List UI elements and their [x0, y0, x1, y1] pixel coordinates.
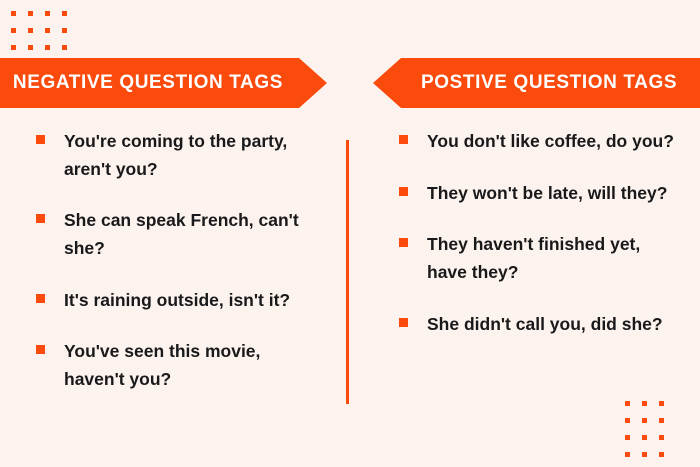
dot — [642, 401, 647, 406]
list-item: It's raining outside, isn't it? — [36, 287, 316, 315]
negative-question-tags-heading: NEGATIVE QUESTION TAGS — [13, 72, 283, 94]
decorative-dot-grid-bottom-right — [625, 401, 664, 457]
list-item: You've seen this movie, haven't you? — [36, 338, 316, 393]
list-item-text: She can speak French, can't she? — [64, 207, 316, 262]
square-bullet-icon — [36, 135, 45, 144]
dot — [642, 452, 647, 457]
dot — [659, 418, 664, 423]
list-item-text: You don't like coffee, do you? — [427, 128, 674, 156]
square-bullet-icon — [399, 238, 408, 247]
dot — [11, 45, 16, 50]
dot — [625, 452, 630, 457]
negative-question-tags-banner: NEGATIVE QUESTION TAGS — [0, 58, 327, 108]
column-divider — [346, 140, 349, 404]
dot — [45, 45, 50, 50]
list-item-text: She didn't call you, did she? — [427, 311, 663, 339]
square-bullet-icon — [36, 294, 45, 303]
list-item-text: You're coming to the party, aren't you? — [64, 128, 316, 183]
dot — [625, 418, 630, 423]
list-item: They won't be late, will they? — [399, 180, 679, 208]
list-item-text: They won't be late, will they? — [427, 180, 667, 208]
list-item-text: They haven't finished yet, have they? — [427, 231, 679, 286]
positive-tag-list: You don't like coffee, do you? They won'… — [399, 128, 679, 338]
dot — [62, 28, 67, 33]
positive-question-tags-heading: POSTIVE QUESTION TAGS — [421, 72, 677, 94]
positive-question-tags-column: You don't like coffee, do you? They won'… — [399, 128, 679, 338]
square-bullet-icon — [399, 318, 408, 327]
negative-question-tags-column: You're coming to the party, aren't you? … — [36, 128, 316, 393]
square-bullet-icon — [399, 187, 408, 196]
dot — [28, 11, 33, 16]
square-bullet-icon — [399, 135, 408, 144]
dot — [625, 435, 630, 440]
list-item-text: It's raining outside, isn't it? — [64, 287, 290, 315]
list-item: She didn't call you, did she? — [399, 311, 679, 339]
square-bullet-icon — [36, 345, 45, 354]
dot — [45, 11, 50, 16]
dot — [642, 435, 647, 440]
list-item: They haven't finished yet, have they? — [399, 231, 679, 286]
list-item-text: You've seen this movie, haven't you? — [64, 338, 316, 393]
dot — [659, 452, 664, 457]
list-item: You don't like coffee, do you? — [399, 128, 679, 156]
dot — [28, 45, 33, 50]
decorative-dot-grid-top-left — [11, 11, 67, 50]
dot — [11, 11, 16, 16]
dot — [45, 28, 50, 33]
dot — [62, 45, 67, 50]
dot — [659, 401, 664, 406]
dot — [625, 401, 630, 406]
dot — [28, 28, 33, 33]
dot — [659, 435, 664, 440]
negative-tag-list: You're coming to the party, aren't you? … — [36, 128, 316, 393]
dot — [11, 28, 16, 33]
list-item: She can speak French, can't she? — [36, 207, 316, 262]
dot — [62, 11, 67, 16]
square-bullet-icon — [36, 214, 45, 223]
list-item: You're coming to the party, aren't you? — [36, 128, 316, 183]
dot — [642, 418, 647, 423]
positive-question-tags-banner: POSTIVE QUESTION TAGS — [373, 58, 700, 108]
